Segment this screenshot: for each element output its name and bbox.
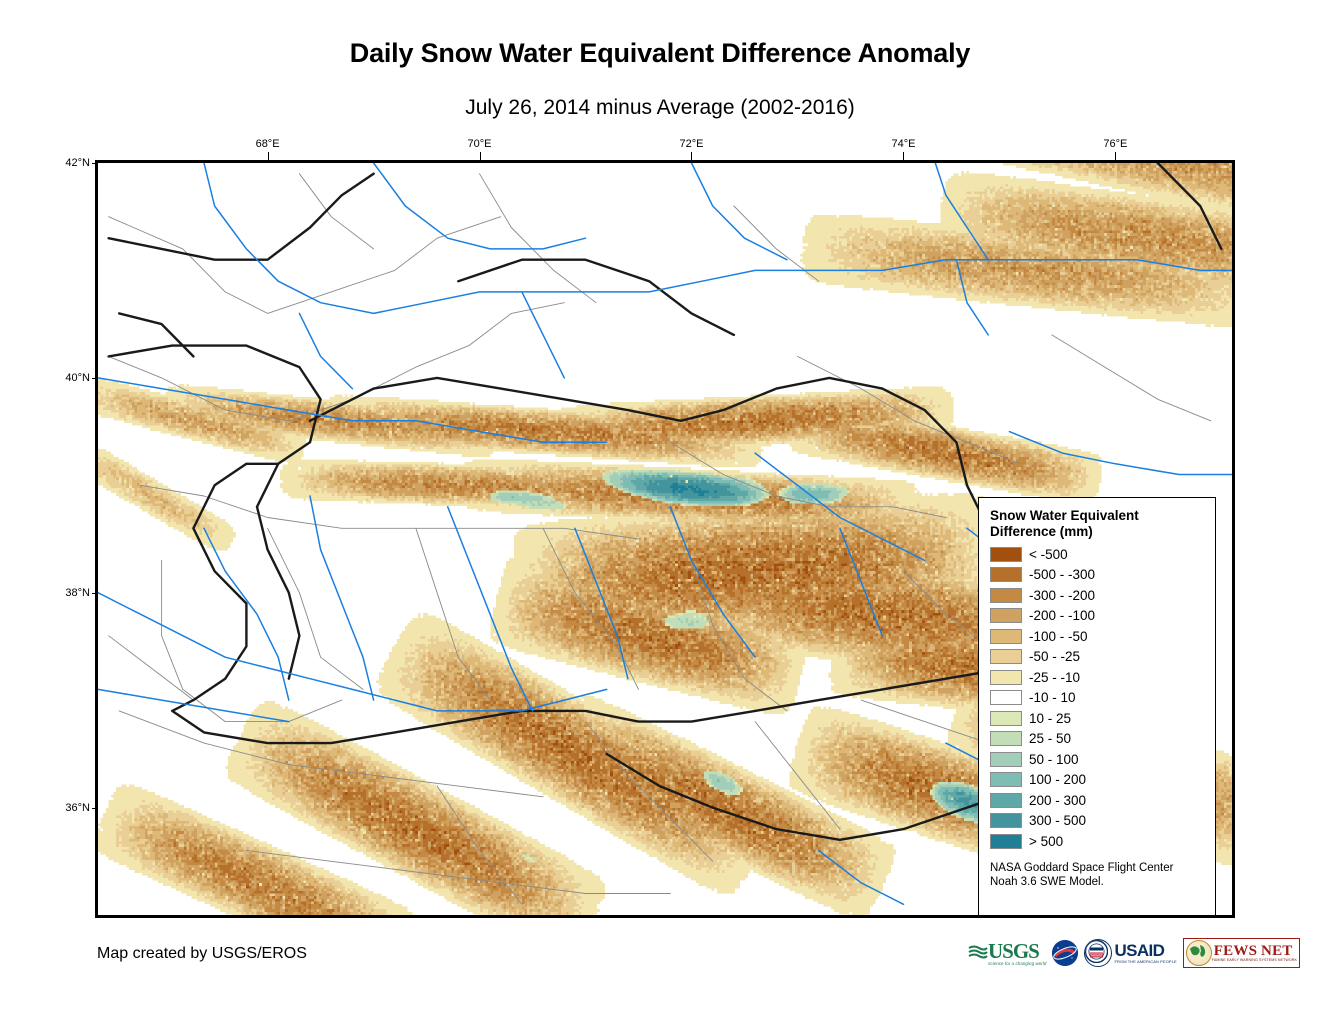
- page-subtitle: July 26, 2014 minus Average (2002-2016): [0, 96, 1320, 120]
- legend-label: -25 - -10: [1029, 670, 1080, 685]
- legend-row: < -500: [990, 544, 1215, 565]
- usaid-wordmark: USAID: [1114, 943, 1176, 959]
- legend-row: -200 - -100: [990, 606, 1215, 627]
- nasa-logo: [1052, 938, 1078, 968]
- legend-swatch: [990, 752, 1022, 767]
- map-credit: Map created by USGS/EROS: [97, 945, 307, 963]
- legend-swatch: [990, 547, 1022, 562]
- legend-label: > 500: [1029, 834, 1063, 849]
- legend-label: 25 - 50: [1029, 731, 1071, 746]
- country-border: [119, 313, 193, 356]
- legend-swatch: [990, 813, 1022, 828]
- fews-net-wordmark: FEWS NET: [1214, 944, 1297, 958]
- legend-source-line1: NASA Goddard Space Flight Center: [990, 862, 1173, 874]
- usaid-logo: USAID FROM THE AMERICAN PEOPLE: [1084, 938, 1176, 968]
- river: [310, 496, 374, 700]
- legend-label: -100 - -50: [1029, 629, 1088, 644]
- usgs-wordmark: USGS: [988, 941, 1046, 961]
- longitude-tick-label: 70°E: [468, 138, 492, 150]
- legend-swatch: [990, 731, 1022, 746]
- legend-row: 25 - 50: [990, 729, 1215, 750]
- legend-class-list: < -500-500 - -300-300 - -200-200 - -100-…: [990, 544, 1215, 852]
- legend-row: -10 - 10: [990, 688, 1215, 709]
- latitude-tick-label: 38°N: [52, 587, 90, 599]
- legend-swatch: [990, 793, 1022, 808]
- legend-swatch: [990, 711, 1022, 726]
- admin-boundary: [480, 174, 597, 303]
- legend-label: 10 - 25: [1029, 711, 1071, 726]
- legend-label: 200 - 300: [1029, 793, 1086, 808]
- latitude-tick-label: 36°N: [52, 802, 90, 814]
- legend-label: -300 - -200: [1029, 588, 1095, 603]
- legend-source-note: NASA Goddard Space Flight Center Noah 3.…: [990, 861, 1200, 889]
- legend-label: -500 - -300: [1029, 567, 1095, 582]
- nasa-ball-art: [1052, 940, 1078, 966]
- latitude-tick-label: 40°N: [52, 372, 90, 384]
- usaid-seal-icon: [1084, 939, 1112, 967]
- legend-row: 300 - 500: [990, 811, 1215, 832]
- longitude-tick-label: 72°E: [679, 138, 703, 150]
- river: [522, 292, 564, 378]
- country-border: [109, 174, 374, 260]
- legend-row: 50 - 100: [990, 749, 1215, 770]
- fews-globe-icon: [1186, 940, 1212, 966]
- usaid-tagline: FROM THE AMERICAN PEOPLE: [1114, 959, 1176, 964]
- legend-label: -10 - 10: [1029, 690, 1076, 705]
- legend-row: > 500: [990, 831, 1215, 852]
- legend-label: -50 - -25: [1029, 649, 1080, 664]
- legend-row: -25 - -10: [990, 667, 1215, 688]
- admin-boundary: [1052, 335, 1211, 421]
- usaid-seal-art: [1085, 940, 1108, 963]
- fews-net-tagline: FAMINE EARLY WARNING SYSTEMS NETWORK: [1212, 958, 1297, 962]
- legend-swatch: [990, 772, 1022, 787]
- legend-swatch: [990, 567, 1022, 582]
- agency-logo-strip: USGS science for a changing world: [968, 936, 1300, 970]
- legend-swatch: [990, 649, 1022, 664]
- country-border: [458, 260, 734, 335]
- legend-swatch: [990, 588, 1022, 603]
- legend-swatch: [990, 690, 1022, 705]
- legend-title: Snow Water Equivalent Difference (mm): [990, 508, 1190, 540]
- fews-net-logo: FEWS NET FAMINE EARLY WARNING SYSTEMS NE…: [1183, 938, 1300, 968]
- legend-source-line2: Noah 3.6 SWE Model.: [990, 876, 1104, 888]
- fews-net-frame: FEWS NET FAMINE EARLY WARNING SYSTEMS NE…: [1183, 938, 1300, 968]
- river: [374, 163, 586, 249]
- page-title: Daily Snow Water Equivalent Difference A…: [0, 38, 1320, 69]
- legend-row: -100 - -50: [990, 626, 1215, 647]
- admin-boundary: [268, 528, 363, 689]
- legend-row: -300 - -200: [990, 585, 1215, 606]
- legend-label: 100 - 200: [1029, 772, 1086, 787]
- usgs-wave-icon: [968, 943, 988, 963]
- legend-title-line1: Snow Water Equivalent: [990, 508, 1139, 523]
- longitude-tick-label: 76°E: [1103, 138, 1127, 150]
- fews-globe-art: [1187, 941, 1208, 962]
- legend-swatch: [990, 834, 1022, 849]
- usgs-tagline: science for a changing world: [988, 961, 1046, 966]
- legend-label: 300 - 500: [1029, 813, 1086, 828]
- longitude-tick-label: 74°E: [891, 138, 915, 150]
- legend-row: 10 - 25: [990, 708, 1215, 729]
- legend-swatch: [990, 629, 1022, 644]
- nasa-meatball-icon: [1052, 940, 1078, 966]
- admin-boundary: [162, 561, 342, 722]
- legend-label: -200 - -100: [1029, 608, 1095, 623]
- admin-boundary: [109, 636, 194, 700]
- latitude-tick-label: 42°N: [52, 157, 90, 169]
- longitude-tick-label: 68°E: [256, 138, 280, 150]
- legend-row: 200 - 300: [990, 790, 1215, 811]
- legend-row: -500 - -300: [990, 565, 1215, 586]
- legend-label: 50 - 100: [1029, 752, 1079, 767]
- legend-label: < -500: [1029, 547, 1068, 562]
- legend-row: 100 - 200: [990, 770, 1215, 791]
- legend-title-line2: Difference (mm): [990, 524, 1093, 539]
- usgs-logo: USGS science for a changing world: [968, 938, 1046, 968]
- legend-swatch: [990, 670, 1022, 685]
- map-legend: Snow Water Equivalent Difference (mm) < …: [978, 497, 1216, 916]
- admin-boundary: [299, 174, 373, 249]
- legend-row: -50 - -25: [990, 647, 1215, 668]
- legend-swatch: [990, 608, 1022, 623]
